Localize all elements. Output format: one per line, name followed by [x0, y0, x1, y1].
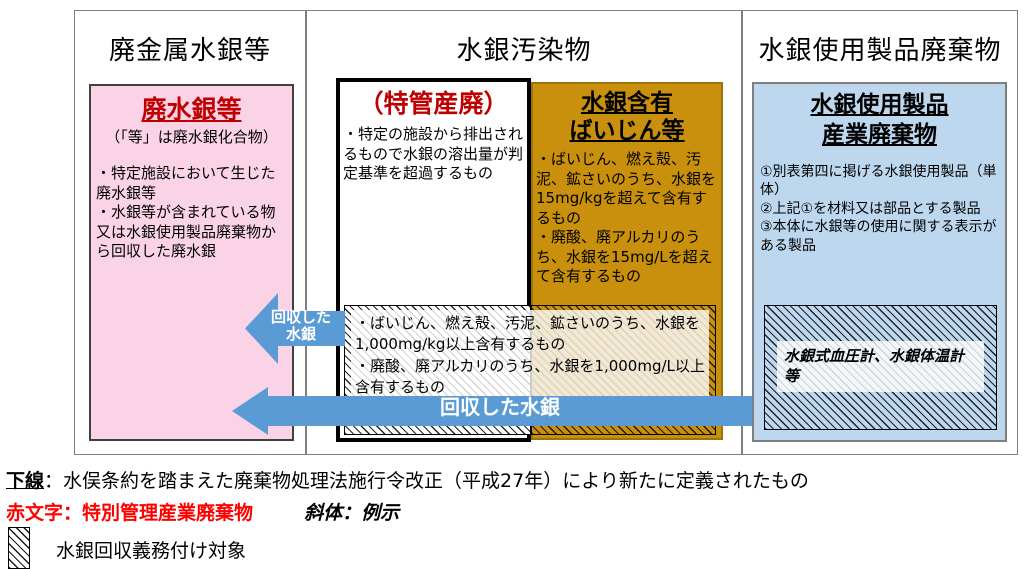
arrow-left-icon	[245, 291, 345, 366]
arrow-recovered-mercury-short	[245, 291, 345, 366]
box-mercury-product-heading-line1: 水銀使用製品	[752, 92, 1007, 118]
legend-line-2: 赤文字：特別管理産業廃棄物 斜体：例示	[6, 498, 399, 525]
panel-title-mercury-product-waste: 水銀使用製品廃棄物	[742, 30, 1018, 67]
legend-line1-sep: ：	[44, 470, 63, 492]
box-mercury-containing-soot-body: ・ばいじん、燃え殻、汚泥、鉱さいのうち、水銀を15mg/kgを超えて含有するもの…	[536, 150, 720, 287]
box-waste-mercury-subheading: （「等」は廃水銀化合物）	[89, 128, 294, 147]
legend-line1-text: 水俣条約を踏まえた廃棄物処理法施行令改正（平成27年）により新たに定義されたもの	[63, 470, 809, 492]
diagram-canvas: 廃金属水銀等 廃水銀等 （「等」は廃水銀化合物） ・特定施設において生じた廃水銀…	[0, 0, 1024, 567]
box-special-control-body: ・特定の施設から排出されるもので水銀の溶出量が判定基準を超過するもの	[343, 125, 525, 184]
arrow-left-long-icon	[232, 385, 752, 437]
legend-red-text-key: 赤文字：特別管理産業廃棄物	[6, 502, 253, 524]
box-mercury-containing-soot-heading-line1: 水銀含有	[531, 90, 723, 116]
arrow-recovered-mercury-long	[232, 385, 752, 437]
box-waste-mercury-body: ・特定施設において生じた廃水銀等 ・水銀等が含まれている物又は水銀使用製品廃棄物…	[96, 164, 288, 262]
box-mercury-product-body: ①別表第四に掲げる水銀使用製品（単体） ②上記①を材料又は部品とする製品 ③本体…	[760, 163, 1000, 255]
legend-line-1: 下線：水俣条約を踏まえた廃棄物処理法施行令改正（平成27年）により新たに定義され…	[6, 466, 809, 493]
legend-hatch-swatch	[8, 527, 30, 569]
legend-italic-key: 斜体：例示	[304, 502, 399, 524]
legend-underline-key: 下線	[6, 470, 44, 492]
box-special-control-heading: （特管産廃）	[336, 90, 531, 119]
legend-line-3: 水銀回収義務付け対象	[56, 536, 246, 563]
box-waste-mercury-heading: 廃水銀等	[89, 96, 294, 125]
box-mercury-product-heading-line2: 産業廃棄物	[752, 122, 1007, 148]
mercury-product-example-text: 水銀式血圧計、水銀体温計等	[784, 346, 977, 387]
panel-title-mercury-contaminated: 水銀汚染物	[306, 30, 742, 67]
panel-title-waste-metal-mercury: 廃金属水銀等	[74, 30, 306, 67]
box-mercury-containing-soot-heading-line2: ばいじん等	[531, 118, 723, 144]
